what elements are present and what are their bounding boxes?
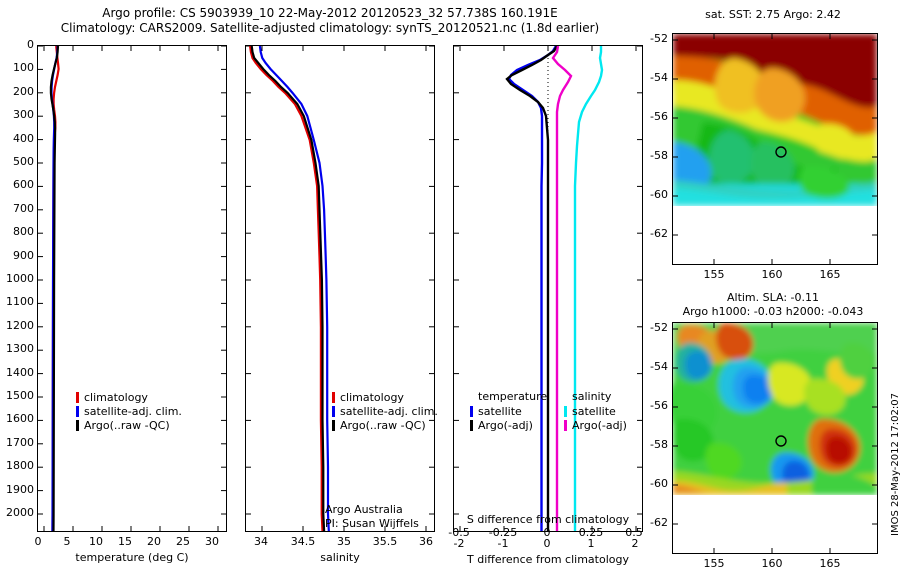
ytick-1400: 1400: [6, 366, 34, 379]
sla-ytick-58: -58: [650, 438, 668, 451]
salinity-legend: climatology satellite-adj. clim. Argo(..…: [332, 390, 438, 432]
ytick-100: 100: [13, 61, 34, 74]
ytick-400: 400: [13, 132, 34, 145]
legend-swatch-argo-raw: [76, 420, 79, 431]
temperature-axis-label-text: temperature (deg C): [75, 551, 188, 564]
legend-title-temperature: temperature: [470, 390, 547, 404]
legend-label-sal-argo-adj: Argo(-adj): [572, 419, 627, 432]
legend-item-sal-argo-adj: Argo(-adj): [564, 418, 627, 432]
ytick-1500: 1500: [6, 389, 34, 402]
sla-ytick-54: -54: [650, 360, 668, 373]
sst-ytick-56: -56: [650, 110, 668, 123]
ytick-1000: 1000: [6, 272, 34, 285]
ytick-1900: 1900: [6, 483, 34, 496]
sst-xtick-155: 155: [700, 268, 728, 281]
climatology-header-text: Climatology: CARS2009. Satellite-adjuste…: [61, 21, 599, 35]
legend-swatch-climatology: [76, 392, 79, 403]
argo-australia-note: Argo Australia PI: Susan Wijffels: [325, 503, 419, 531]
ytick-0: 0: [27, 38, 34, 51]
legend-label-satellite-adj-s: satellite-adj. clim.: [340, 405, 438, 418]
legend-label-temp-argo-adj: Argo(-adj): [478, 419, 533, 432]
legend-item-temp-satellite: satellite: [470, 404, 547, 418]
xtick-t-diff-1: 1: [581, 537, 601, 550]
difference-plot: [454, 46, 642, 531]
legend-swatch-sal-argo-adj: [564, 420, 567, 431]
sst-map-title-text: sat. SST: 2.75 Argo: 2.42: [705, 8, 841, 21]
sst-ytick-52: -52: [650, 32, 668, 45]
ytick-1700: 1700: [6, 436, 34, 449]
legend-label-climatology: climatology: [84, 391, 148, 404]
sst-ytick-60: -60: [650, 188, 668, 201]
legend-swatch-temp-satellite: [470, 406, 473, 417]
ytick-900: 900: [13, 249, 34, 262]
legend-item-temp-argo-adj: Argo(-adj): [470, 418, 547, 432]
page-title-line2: Climatology: CARS2009. Satellite-adjuste…: [0, 21, 660, 36]
temperature-plot: [38, 46, 226, 531]
ytick-1100: 1100: [6, 295, 34, 308]
ytick-800: 800: [13, 225, 34, 238]
salinity-plot: [246, 46, 434, 531]
xtick-t-30: 30: [202, 535, 222, 548]
difference-panel[interactable]: [453, 45, 643, 532]
sst-map[interactable]: [672, 33, 878, 265]
legend-swatch-climatology-s: [332, 392, 335, 403]
imos-credit: IMOS 28-May-2012 17:02:07: [890, 393, 900, 536]
legend-label-climatology-s: climatology: [340, 391, 404, 404]
sla-ytick-62: -62: [650, 516, 668, 529]
argo-australia-text: Argo Australia: [325, 503, 419, 517]
sla-map-image: [673, 323, 877, 553]
legend-item-satellite-adj-s: satellite-adj. clim.: [332, 404, 438, 418]
s-difference-axis-label-text: S difference from climatology: [467, 513, 629, 526]
ytick-600: 600: [13, 178, 34, 191]
sst-field: [673, 34, 877, 206]
sst-xtick-160: 160: [758, 268, 786, 281]
legend-item-climatology: climatology: [76, 390, 182, 404]
sst-xtick-165: 165: [816, 268, 844, 281]
argo-pi-text: PI: Susan Wijffels: [325, 517, 419, 531]
ytick-1300: 1300: [6, 342, 34, 355]
xtick-s-355: 35.5: [369, 535, 401, 548]
ytick-500: 500: [13, 155, 34, 168]
xtick-t-20: 20: [144, 535, 164, 548]
legend-swatch-satellite-adj: [76, 406, 79, 417]
temperature-panel[interactable]: [37, 45, 227, 532]
ytick-1800: 1800: [6, 459, 34, 472]
s-difference-axis-label: S difference from climatology: [453, 513, 643, 526]
legend-label-satellite-adj: satellite-adj. clim.: [84, 405, 182, 418]
sla-map[interactable]: [672, 322, 878, 554]
legend-swatch-argo-raw-s: [332, 420, 335, 431]
xtick-t-diff-neg1: -1: [492, 537, 514, 550]
ytick-1200: 1200: [6, 319, 34, 332]
legend-swatch-temp-argo-adj: [470, 420, 473, 431]
ytick-300: 300: [13, 108, 34, 121]
legend-item-argo-raw: Argo(..raw -QC): [76, 418, 182, 432]
sla-map-title: Altim. SLA: -0.11 Argo h1000: -0.03 h200…: [660, 291, 886, 319]
xtick-t-diff-neg2: -2: [448, 537, 470, 550]
ytick-200: 200: [13, 85, 34, 98]
xtick-s-345: 34.5: [287, 535, 319, 548]
legend-label-temp-satellite: satellite: [478, 405, 522, 418]
legend-swatch-sal-satellite: [564, 406, 567, 417]
sla-map-title-line2: Argo h1000: -0.03 h2000: -0.043: [660, 305, 886, 319]
xtick-s-35: 35: [331, 535, 357, 548]
sla-ytick-52: -52: [650, 321, 668, 334]
sst-ytick-54: -54: [650, 71, 668, 84]
xtick-t-15: 15: [115, 535, 135, 548]
sla-xtick-165: 165: [816, 557, 844, 570]
xtick-t-diff-0: 0: [537, 537, 557, 550]
sst-map-image: [673, 34, 877, 264]
legend-title-salinity: salinity: [564, 390, 627, 404]
sla-map-title-line1: Altim. SLA: -0.11: [660, 291, 886, 305]
legend-item-satellite-adj: satellite-adj. clim.: [76, 404, 182, 418]
difference-legend-salinity: salinity satellite Argo(-adj): [564, 390, 627, 432]
xtick-t-25: 25: [173, 535, 193, 548]
sla-ytick-60: -60: [650, 477, 668, 490]
sst-ytick-58: -58: [650, 149, 668, 162]
sla-xtick-160: 160: [758, 557, 786, 570]
temperature-legend: climatology satellite-adj. clim. Argo(..…: [76, 390, 182, 432]
legend-label-sal-satellite: satellite: [572, 405, 616, 418]
sst-ytick-62: -62: [650, 227, 668, 240]
temperature-y-ticks: 0 100 200 300 400 500 600 700 800 900 10…: [0, 45, 34, 532]
temperature-axis-label: temperature (deg C): [37, 551, 227, 564]
sla-map-y-ticks: -52 -54 -56 -58 -60 -62: [640, 322, 668, 554]
t-difference-axis-label-text: T difference from climatology: [467, 553, 629, 566]
xtick-t-0: 0: [28, 535, 48, 548]
legend-item-climatology-s: climatology: [332, 390, 438, 404]
xtick-t-5: 5: [57, 535, 77, 548]
ytick-1600: 1600: [6, 412, 34, 425]
sla-field: [673, 323, 877, 495]
legend-swatch-satellite-adj-s: [332, 406, 335, 417]
legend-item-sal-satellite: satellite: [564, 404, 627, 418]
sla-xtick-155: 155: [700, 557, 728, 570]
xtick-s-36: 36: [413, 535, 439, 548]
sla-ytick-56: -56: [650, 399, 668, 412]
ytick-700: 700: [13, 202, 34, 215]
difference-legend-temperature: temperature satellite Argo(-adj): [470, 390, 547, 432]
salinity-axis-label-text: salinity: [320, 551, 359, 564]
xtick-s-34: 34: [248, 535, 274, 548]
legend-label-argo-raw: Argo(..raw -QC): [84, 419, 170, 432]
page-title-line1: Argo profile: CS 5903939_10 22-May-2012 …: [0, 6, 660, 21]
salinity-panel[interactable]: [245, 45, 435, 532]
legend-label-argo-raw-s: Argo(..raw -QC): [340, 419, 426, 432]
t-difference-axis-label: T difference from climatology: [453, 553, 643, 566]
xtick-t-10: 10: [86, 535, 106, 548]
sst-map-y-ticks: -52 -54 -56 -58 -60 -62: [640, 33, 668, 265]
sst-map-title: sat. SST: 2.75 Argo: 2.42: [668, 8, 878, 22]
profile-header-text: Argo profile: CS 5903939_10 22-May-2012 …: [102, 6, 557, 20]
ytick-2000: 2000: [6, 506, 34, 519]
legend-item-argo-raw-s: Argo(..raw -QC): [332, 418, 438, 432]
salinity-axis-label: salinity: [245, 551, 435, 564]
